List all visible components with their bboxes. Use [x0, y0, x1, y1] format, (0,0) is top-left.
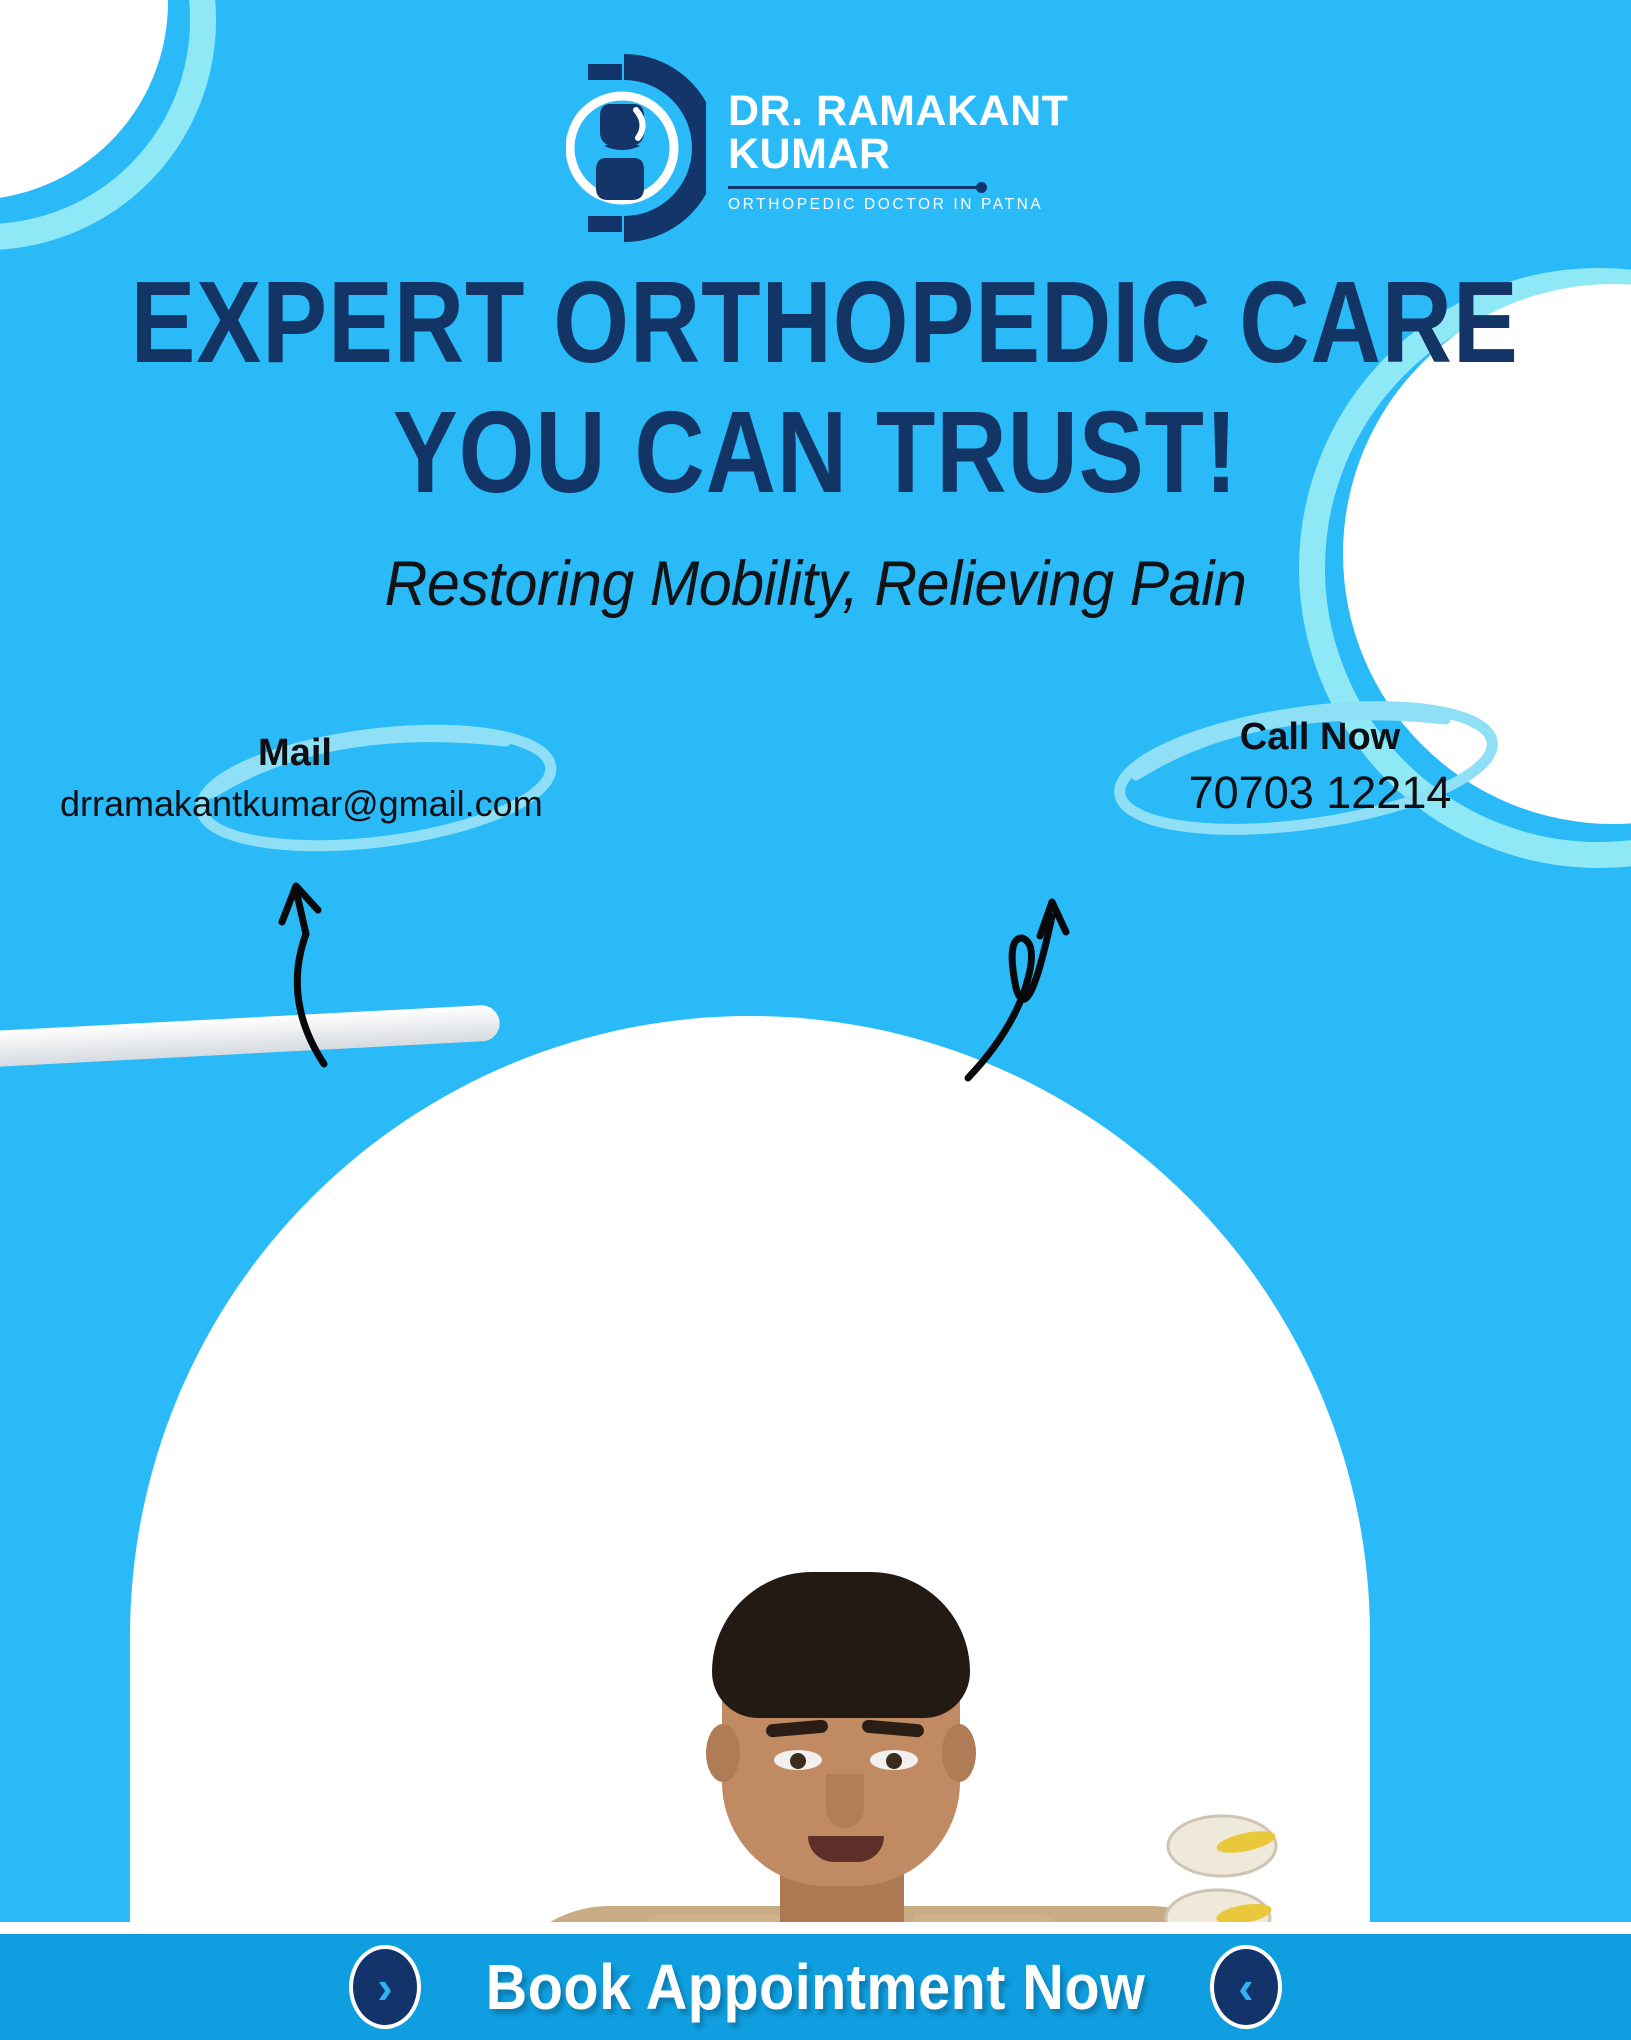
doctor-eye-left — [774, 1750, 822, 1770]
contact-mail[interactable]: Mail drramakantkumar@gmail.com — [60, 728, 530, 825]
doctor-ear-right — [942, 1724, 976, 1782]
knee-joint-logo-icon — [566, 48, 706, 248]
book-appointment-label[interactable]: Book Appointment Now — [486, 1950, 1146, 2024]
contact-mail-label: Mail — [232, 728, 358, 779]
contact-call-value[interactable]: 70703 12214 — [1120, 767, 1520, 819]
brand-logo: DR. RAMAKANT KUMAR ORTHOPEDIC DOCTOR IN … — [566, 48, 1068, 248]
brand-subtitle: ORTHOPEDIC DOCTOR IN PATNA — [728, 196, 1068, 214]
contact-call[interactable]: Call Now 70703 12214 — [1120, 712, 1520, 819]
contact-mail-value[interactable]: drramakantkumar@gmail.com — [60, 783, 530, 825]
book-appointment-bar[interactable]: › Book Appointment Now ‹ — [0, 1934, 1631, 2040]
chevron-left-icon[interactable]: ‹ — [1210, 1945, 1282, 2029]
contact-call-label: Call Now — [1214, 712, 1426, 763]
contact-mail-title-wrap: Mail — [232, 728, 358, 779]
doctor-photo — [0, 1000, 1631, 1922]
hand-drawn-looping-arrow-icon — [960, 860, 1090, 1090]
poster-root: DR. RAMAKANT KUMAR ORTHOPEDIC DOCTOR IN … — [0, 0, 1631, 2040]
doctor-ear-left — [706, 1724, 740, 1782]
photo-arch-mask — [130, 1016, 1370, 1922]
brand-name-line1: DR. RAMAKANT — [728, 90, 1068, 132]
doctor-nose — [826, 1774, 864, 1828]
brand-logo-text: DR. RAMAKANT KUMAR ORTHOPEDIC DOCTOR IN … — [728, 82, 1068, 213]
doctor-hair — [712, 1572, 970, 1718]
chevron-right-icon[interactable]: › — [349, 1945, 421, 2029]
hand-drawn-arrow-up-left-icon — [246, 850, 366, 1070]
headline-line-2: YOU CAN TRUST! — [130, 388, 1500, 518]
brand-divider — [728, 186, 982, 189]
doctor-eye-right — [870, 1750, 918, 1770]
headline-line-1: EXPERT ORTHOPEDIC CARE — [130, 258, 1500, 388]
spine-model-prop — [1104, 1806, 1304, 1922]
cta-separator — [0, 1922, 1631, 1934]
contact-call-title-wrap: Call Now — [1214, 712, 1426, 763]
headline: EXPERT ORTHOPEDIC CARE YOU CAN TRUST! — [0, 258, 1631, 518]
brand-name-line2: KUMAR — [728, 133, 1068, 175]
tagline: Restoring Mobility, Relieving Pain — [49, 548, 1582, 620]
